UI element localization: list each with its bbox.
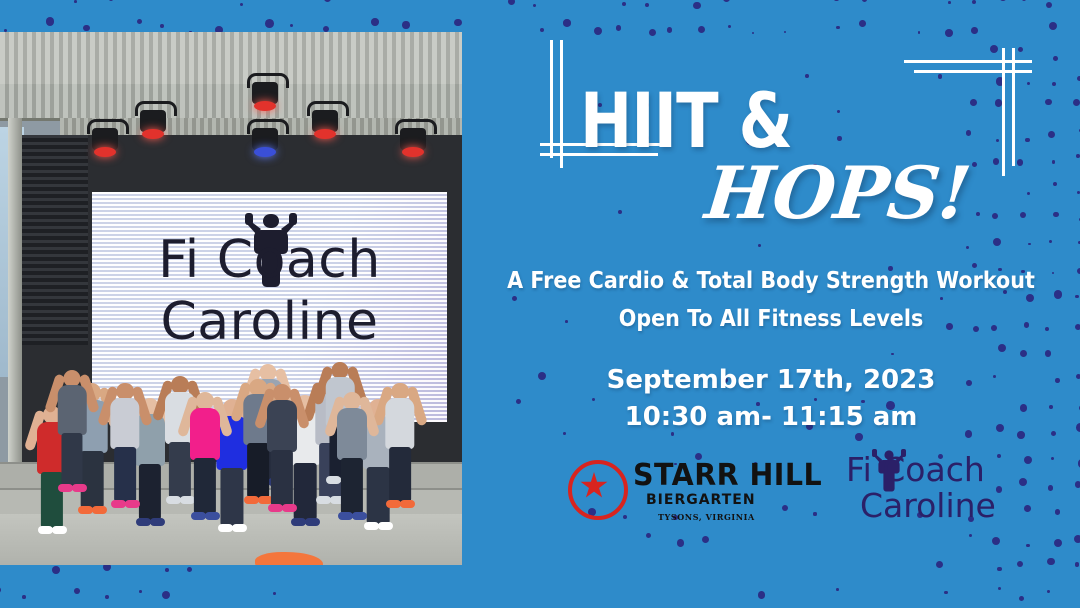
- photo-person-shoe: [386, 500, 401, 508]
- background-dot: [371, 18, 378, 25]
- photo-person-shoe: [352, 512, 367, 520]
- photo-person-legs: [194, 458, 216, 514]
- photo-person-torso: [267, 400, 297, 452]
- stage-light-red-5: [400, 128, 426, 150]
- event-time: 10:30 am- 11:15 am: [462, 399, 1080, 436]
- photo-person-shoe: [58, 484, 73, 492]
- photo-person-shoe: [205, 512, 220, 520]
- photo-person-shoe: [52, 526, 67, 534]
- background-dot: [105, 595, 109, 599]
- photo-person: [48, 370, 96, 500]
- star-icon: [580, 472, 608, 500]
- stage-light-red-1: [92, 128, 118, 150]
- subtitle-line-1: A Free Cardio & Total Body Strength Work…: [493, 262, 1049, 300]
- photo-canopy-roof-second: [0, 84, 462, 121]
- background-dot: [74, 0, 77, 3]
- led-screen-line-1: Fi Coach: [92, 230, 447, 290]
- photo-person-shoe: [150, 518, 165, 526]
- photo-person-shoe: [378, 522, 393, 530]
- logo-row: STARR HILL BIERGARTEN TYSONS, VIRGINIA F…: [462, 448, 1080, 538]
- background-dot: [22, 595, 26, 599]
- background-dot: [137, 19, 142, 24]
- photo-person: [258, 384, 306, 520]
- photo-person-shoe: [400, 500, 415, 508]
- photo-person-legs: [61, 433, 82, 486]
- background-dot: [162, 591, 170, 599]
- photo-person-legs: [114, 447, 136, 502]
- photo-person-torso: [58, 385, 87, 434]
- starr-hill-location: TYSONS, VIRGINIA: [658, 512, 755, 522]
- background-dot: [139, 590, 142, 593]
- background-dot: [46, 17, 54, 25]
- photo-person-legs: [271, 450, 293, 506]
- flyer-canvas: Fi Coach Caroline: [0, 0, 1080, 608]
- fit-coach-line-1: Fi Coach: [846, 450, 985, 489]
- photo-person: [376, 383, 424, 516]
- background-dot: [74, 588, 80, 594]
- led-screen-line-2: Caroline: [92, 292, 447, 352]
- background-dot: [324, 0, 331, 2]
- photo-louvered-wall: [22, 135, 88, 345]
- photo-person-torso: [190, 408, 220, 460]
- background-dot: [52, 566, 60, 574]
- background-dot: [273, 592, 276, 595]
- fit-coach-caroline-logo: Fi Coach Caroline: [846, 448, 1026, 534]
- photo-person-torso: [337, 408, 367, 460]
- photo-person-torso: [110, 398, 139, 449]
- event-photo: Fi Coach Caroline: [0, 32, 462, 565]
- photo-person-shoe: [111, 500, 126, 508]
- starr-hill-logo: STARR HILL BIERGARTEN TYSONS, VIRGINIA: [568, 452, 778, 534]
- photo-person-shoe: [72, 484, 87, 492]
- photo-person-shoe: [38, 526, 53, 534]
- content-panel: HIIT & HOPS! A Free Cardio & Total Body …: [462, 0, 1080, 608]
- photo-person-shoe: [166, 496, 181, 504]
- starr-hill-name: STARR HILL: [633, 458, 822, 493]
- background-dot: [402, 21, 409, 28]
- background-dot: [109, 0, 113, 1]
- photo-person-shoe: [232, 524, 247, 532]
- background-dot: [83, 25, 90, 32]
- background-dot: [265, 19, 274, 28]
- photo-person: [181, 392, 229, 528]
- background-dot: [240, 3, 243, 6]
- stage-light-blue-1: [252, 128, 278, 150]
- photo-person-legs: [389, 447, 411, 502]
- background-dot: [165, 568, 169, 572]
- headline-line-1: HIIT &: [580, 82, 792, 160]
- photo-person-shoe: [244, 496, 259, 504]
- photo-person: [328, 392, 376, 528]
- photo-person-shoe: [136, 518, 151, 526]
- event-date: September 17th, 2023: [462, 362, 1080, 399]
- event-datetime-block: September 17th, 2023 10:30 am- 11:15 am: [462, 362, 1080, 436]
- photo-person-shoe: [305, 518, 320, 526]
- background-dot: [187, 567, 192, 572]
- photo-person-shoe: [268, 504, 283, 512]
- photo-person-legs: [341, 458, 363, 514]
- background-dot: [160, 24, 164, 28]
- headline-block: HIIT & HOPS!: [462, 82, 1080, 242]
- subtitle-line-2: Open To All Fitness Levels: [493, 300, 1049, 338]
- starr-hill-subtitle: BIERGARTEN: [646, 492, 756, 508]
- fit-coach-line-2: Caroline: [860, 486, 996, 525]
- photo-person-shoe: [338, 512, 353, 520]
- stage-light-red-3: [252, 82, 278, 104]
- photo-person-torso: [385, 398, 414, 449]
- background-dot: [290, 24, 293, 27]
- background-dot: [0, 587, 1, 593]
- photo-person-shoe: [78, 506, 93, 514]
- photo-person-shoe: [125, 500, 140, 508]
- starr-hill-circle-icon: [568, 460, 628, 520]
- subtitle-block: A Free Cardio & Total Body Strength Work…: [493, 262, 1049, 338]
- photo-canopy-roof: [0, 32, 462, 87]
- photo-person-shoe: [191, 512, 206, 520]
- headline-line-2: HOPS!: [702, 156, 973, 230]
- stage-light-red-2: [140, 110, 166, 132]
- stage-light-red-4: [312, 110, 338, 132]
- photo-person-shoe: [282, 504, 297, 512]
- photo-person: [101, 383, 149, 516]
